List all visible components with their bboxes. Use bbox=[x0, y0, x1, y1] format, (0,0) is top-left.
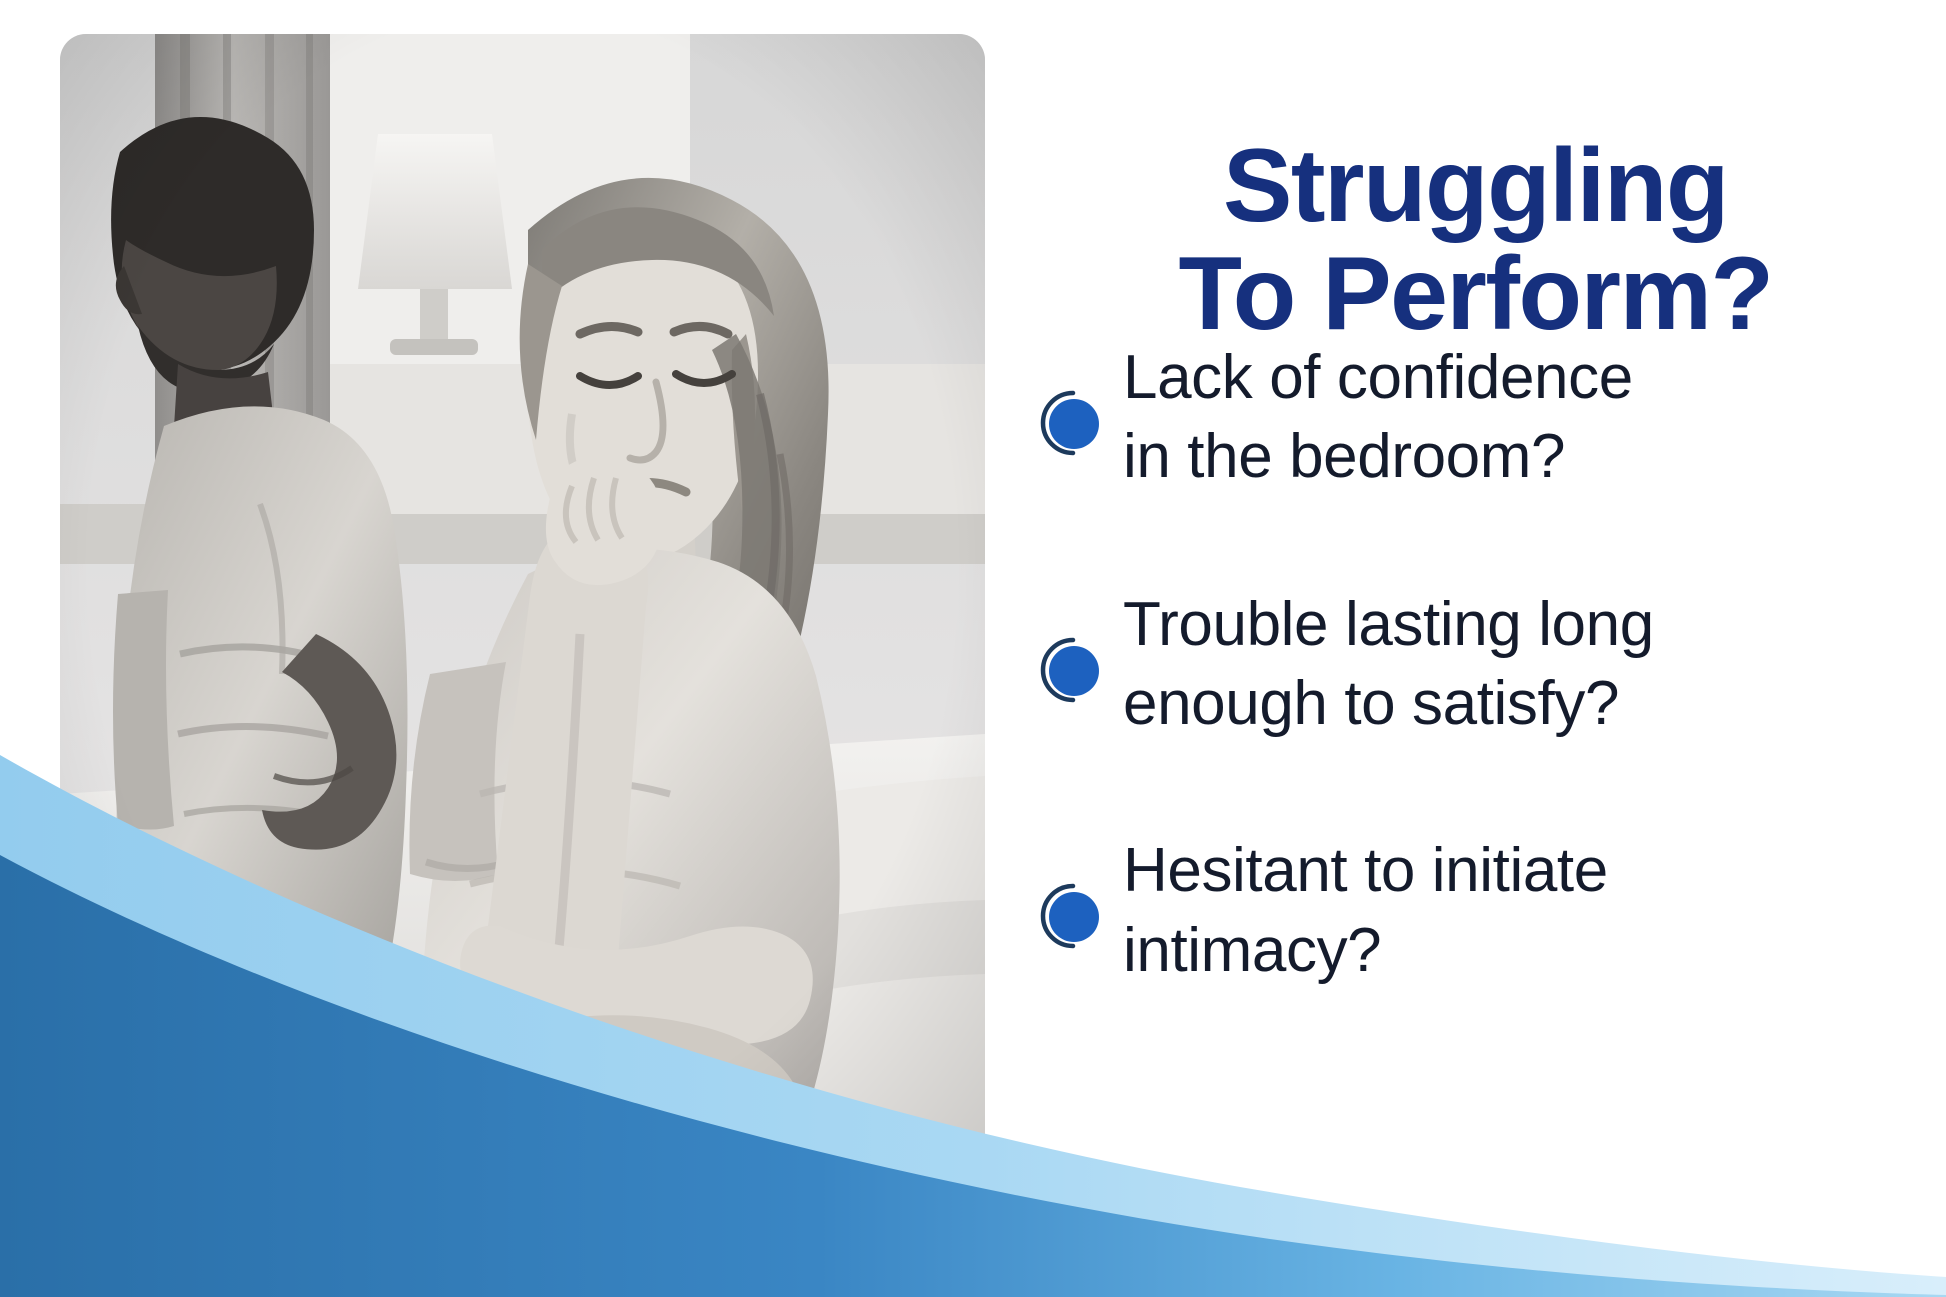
list-item-text: Trouble lasting long enough to satisfy? bbox=[1123, 583, 1943, 744]
list-item-line-2: intimacy? bbox=[1123, 911, 1943, 990]
list-item-line-2: enough to satisfy? bbox=[1123, 664, 1943, 743]
list-item-line-1: Lack of confidence bbox=[1123, 338, 1943, 417]
slide-canvas: Struggling To Perform? Lack of confidenc… bbox=[0, 0, 1946, 1297]
headline-line-2: To Perform? bbox=[1005, 240, 1946, 348]
blue-circle-arc-bullet-icon bbox=[1033, 633, 1107, 707]
list-item-text: Lack of confidence in the bedroom? bbox=[1123, 336, 1943, 497]
list-item-line-1: Trouble lasting long bbox=[1123, 585, 1943, 664]
couple-photo bbox=[60, 34, 985, 1219]
bullet-list: Lack of confidence in the bedroom? Troub… bbox=[1033, 336, 1943, 990]
list-item: Lack of confidence in the bedroom? bbox=[1033, 336, 1943, 497]
list-item-line-1: Hesitant to initiate bbox=[1123, 831, 1943, 910]
list-item-line-2: in the bedroom? bbox=[1123, 417, 1943, 496]
list-item-text: Hesitant to initiate intimacy? bbox=[1123, 829, 1943, 990]
list-item: Trouble lasting long enough to satisfy? bbox=[1033, 583, 1943, 744]
headline-line-1: Struggling bbox=[1005, 132, 1946, 240]
blue-circle-arc-bullet-icon bbox=[1033, 879, 1107, 953]
blue-circle-arc-bullet-icon bbox=[1033, 386, 1107, 460]
content-panel: Struggling To Perform? Lack of confidenc… bbox=[1005, 0, 1946, 1297]
page-title: Struggling To Perform? bbox=[1005, 132, 1946, 348]
couple-photo-illustration bbox=[60, 34, 985, 1219]
list-item: Hesitant to initiate intimacy? bbox=[1033, 829, 1943, 990]
